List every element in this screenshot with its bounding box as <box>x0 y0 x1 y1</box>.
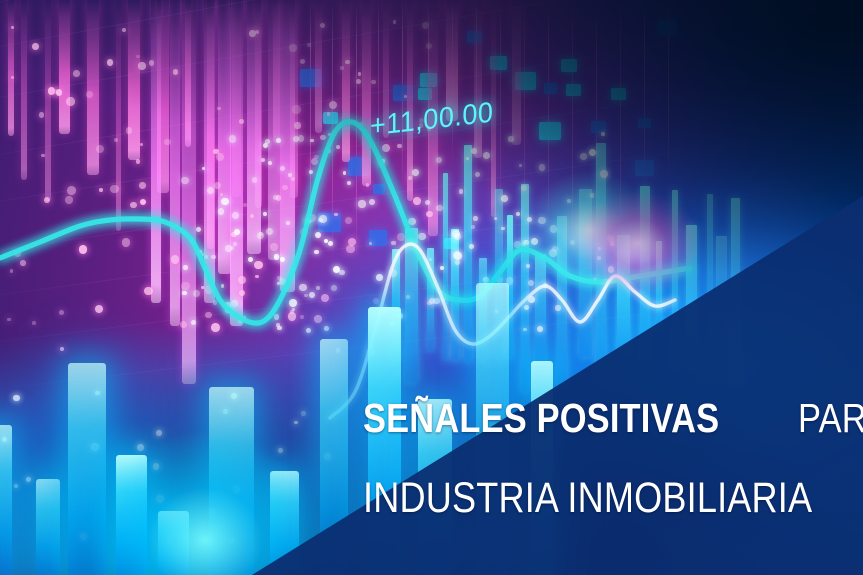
hero-banner: +11,00.00 SEÑALES POSITIVASPARA LA INDUS… <box>0 0 863 575</box>
headline-line1-light: PARA LA <box>798 398 863 439</box>
headline-line-2: INDUSTRIA INMOBILIARIA <box>363 477 843 520</box>
headline-emphasis: SEÑALES POSITIVAS <box>363 398 719 439</box>
headline-line-1: SEÑALES POSITIVASPARA LA <box>363 398 843 439</box>
headline-block: SEÑALES POSITIVASPARA LA INDUSTRIA INMOB… <box>363 398 843 520</box>
center-pink-burst <box>548 168 728 318</box>
headline-line2-light: INDUSTRIA INMOBILIARIA <box>363 477 812 520</box>
